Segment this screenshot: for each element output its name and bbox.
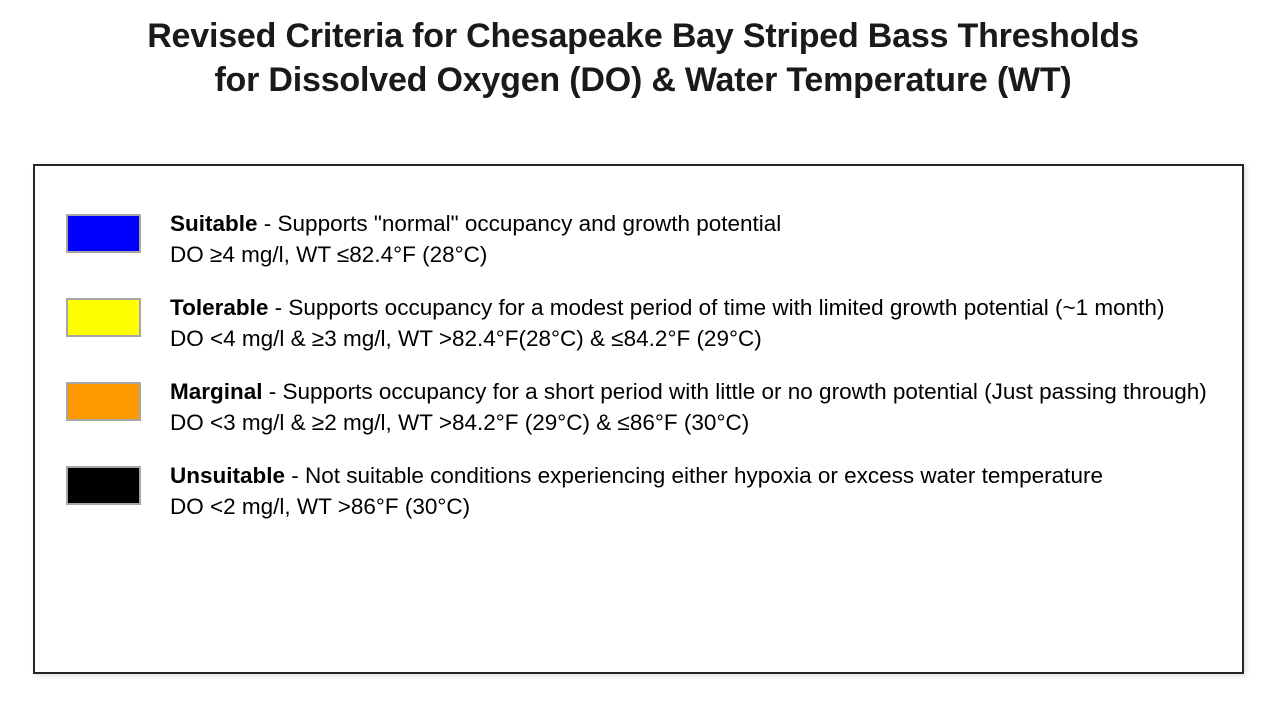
legend-item-label-marginal: Marginal	[170, 379, 263, 404]
color-swatch-unsuitable	[66, 466, 141, 505]
legend-item-text-suitable: Suitable - Supports "normal" occupancy a…	[170, 208, 1226, 270]
legend-item-label-tolerable: Tolerable	[170, 295, 268, 320]
legend-item-label-unsuitable: Unsuitable	[170, 463, 285, 488]
legend-item-tolerable: Tolerable - Supports occupancy for a mod…	[66, 292, 1226, 354]
legend-item-separator-tolerable: -	[268, 295, 288, 320]
legend-item-values-suitable: DO ≥4 mg/l, WT ≤82.4°F (28°C)	[170, 239, 1226, 270]
legend-item-separator-marginal: -	[263, 379, 283, 404]
color-swatch-tolerable	[66, 298, 141, 337]
legend-item-description-unsuitable: Unsuitable - Not suitable conditions exp…	[170, 460, 1226, 491]
legend-item-values-marginal: DO <3 mg/l & ≥2 mg/l, WT >84.2°F (29°C) …	[170, 407, 1226, 438]
legend-item-desc-tolerable: Supports occupancy for a modest period o…	[288, 295, 1164, 320]
legend-item-text-tolerable: Tolerable - Supports occupancy for a mod…	[170, 292, 1226, 354]
legend-list: Suitable - Supports "normal" occupancy a…	[66, 208, 1226, 522]
legend-item-suitable: Suitable - Supports "normal" occupancy a…	[66, 208, 1226, 270]
legend-item-marginal: Marginal - Supports occupancy for a shor…	[66, 376, 1226, 438]
legend-item-label-suitable: Suitable	[170, 211, 258, 236]
legend-item-desc-unsuitable: Not suitable conditions experiencing eit…	[305, 463, 1103, 488]
legend-item-description-tolerable: Tolerable - Supports occupancy for a mod…	[170, 292, 1226, 323]
legend-panel: Suitable - Supports "normal" occupancy a…	[33, 164, 1244, 674]
legend-item-desc-suitable: Supports "normal" occupancy and growth p…	[278, 211, 782, 236]
legend-item-separator-unsuitable: -	[285, 463, 305, 488]
page-title-line-2: for Dissolved Oxygen (DO) & Water Temper…	[0, 58, 1286, 102]
page-title-line-1: Revised Criteria for Chesapeake Bay Stri…	[0, 14, 1286, 58]
legend-item-text-marginal: Marginal - Supports occupancy for a shor…	[170, 376, 1226, 438]
legend-item-desc-marginal: Supports occupancy for a short period wi…	[283, 379, 1207, 404]
legend-item-values-tolerable: DO <4 mg/l & ≥3 mg/l, WT >82.4°F(28°C) &…	[170, 323, 1226, 354]
legend-item-separator-suitable: -	[258, 211, 278, 236]
legend-item-description-marginal: Marginal - Supports occupancy for a shor…	[170, 376, 1226, 407]
legend-item-values-unsuitable: DO <2 mg/l, WT >86°F (30°C)	[170, 491, 1226, 522]
legend-item-unsuitable: Unsuitable - Not suitable conditions exp…	[66, 460, 1226, 522]
legend-item-text-unsuitable: Unsuitable - Not suitable conditions exp…	[170, 460, 1226, 522]
color-swatch-marginal	[66, 382, 141, 421]
legend-item-description-suitable: Suitable - Supports "normal" occupancy a…	[170, 208, 1226, 239]
page-title: Revised Criteria for Chesapeake Bay Stri…	[0, 14, 1286, 102]
color-swatch-suitable	[66, 214, 141, 253]
